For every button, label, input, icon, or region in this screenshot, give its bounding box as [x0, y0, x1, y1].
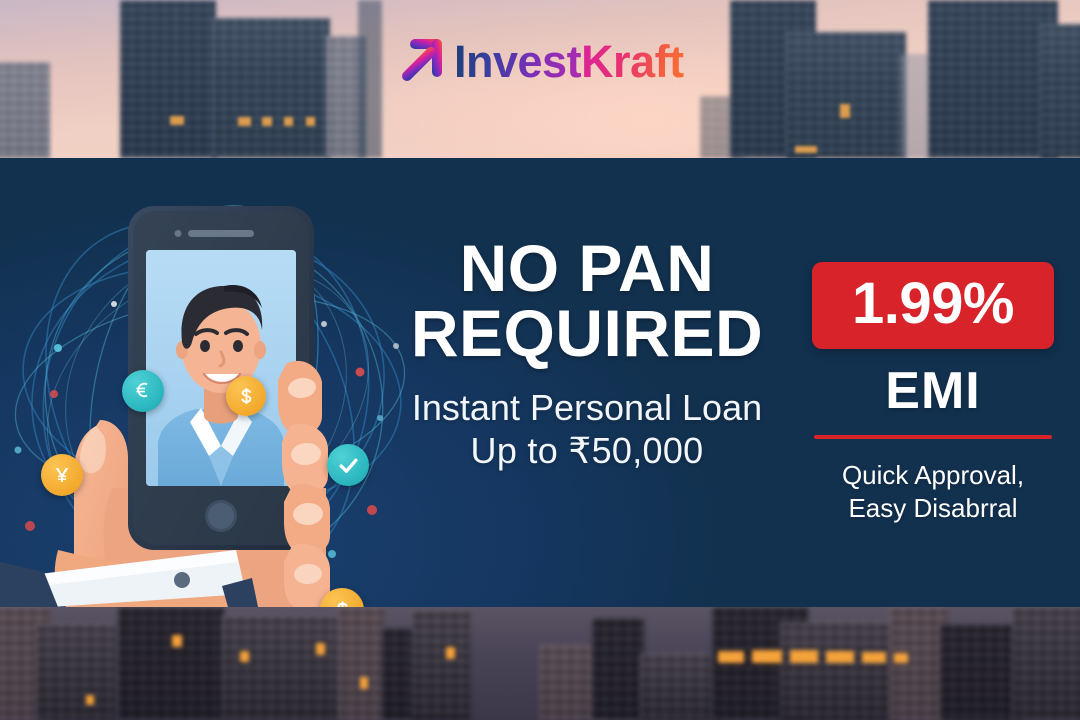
- window-light: [826, 651, 854, 663]
- main-navy-panel: NO PAN REQUIRED Instant Personal Loan Up…: [0, 158, 1080, 607]
- arrow-up-right-logo-icon: [396, 33, 452, 89]
- window-light: [752, 650, 782, 663]
- skyline-tower: [212, 18, 330, 158]
- coin-euro-icon: [122, 370, 164, 412]
- skyline-tower: [900, 54, 930, 158]
- window-light: [360, 677, 368, 689]
- window-light: [316, 643, 325, 655]
- hand-holding-phone-illustration: [0, 158, 420, 607]
- window-light: [86, 695, 94, 705]
- headline-line-1: NO PAN: [392, 236, 782, 301]
- coin-dollar-top-icon: [226, 376, 266, 416]
- window-light: [894, 653, 908, 663]
- window-light: [262, 117, 272, 126]
- window-light: [238, 117, 251, 126]
- bottom-cityscape-background: [0, 607, 1080, 720]
- red-divider: [814, 435, 1052, 439]
- window-light: [170, 116, 184, 125]
- window-light: [718, 651, 744, 663]
- skyline-tower: [120, 0, 216, 158]
- subheadline-block: Instant Personal Loan Up to ₹50,000: [392, 387, 782, 472]
- subheadline-line-1: Instant Personal Loan: [392, 387, 782, 429]
- rate-note-line-1: Quick Approval,: [812, 459, 1054, 492]
- window-light: [172, 635, 182, 647]
- brand-name-invest: Invest: [454, 36, 581, 87]
- headline-block: NO PAN REQUIRED Instant Personal Loan Up…: [392, 236, 782, 472]
- window-light: [284, 117, 293, 126]
- window-light: [306, 117, 315, 126]
- rate-note: Quick Approval, Easy Disabrral: [812, 459, 1054, 526]
- brand-name-kraft: Kraft: [581, 36, 684, 87]
- skyline-tower: [786, 32, 906, 158]
- skyline-tower: [222, 616, 340, 720]
- skyline-tower: [1012, 607, 1080, 720]
- skyline-tower: [412, 610, 470, 720]
- coin-yen-icon: [41, 454, 83, 496]
- rate-value: 1.99%: [812, 275, 1054, 333]
- skyline-tower: [592, 618, 644, 720]
- brand-wordmark: InvestKraft: [454, 39, 684, 84]
- window-light: [790, 650, 818, 663]
- window-light: [840, 104, 850, 118]
- skyline-tower: [382, 628, 416, 720]
- skyline-tower: [1040, 24, 1080, 158]
- skyline-tower: [118, 607, 224, 720]
- window-light: [862, 652, 886, 663]
- skyline-tower: [0, 62, 50, 158]
- cuff-button: [174, 572, 190, 588]
- coin-checkmark-icon: [327, 444, 369, 486]
- window-light: [446, 647, 455, 659]
- brand-logo[interactable]: InvestKraft: [396, 30, 684, 92]
- emi-label: EMI: [812, 365, 1054, 417]
- skyline-tower: [358, 0, 382, 158]
- rate-badge: 1.99%: [812, 262, 1054, 349]
- promo-banner: InvestKraft: [0, 0, 1080, 720]
- headline-line-2: REQUIRED: [392, 301, 782, 366]
- skyline-tower: [36, 624, 116, 720]
- rate-note-line-2: Easy Disabrral: [812, 492, 1054, 525]
- skyline-tower: [780, 622, 900, 720]
- window-light: [240, 651, 249, 662]
- skyline-tower: [338, 607, 384, 720]
- skyline-tower: [928, 0, 1058, 158]
- rate-block: 1.99% EMI Quick Approval, Easy Disabrral: [812, 262, 1054, 526]
- subheadline-line-2: Up to ₹50,000: [392, 430, 782, 472]
- window-light: [795, 146, 817, 153]
